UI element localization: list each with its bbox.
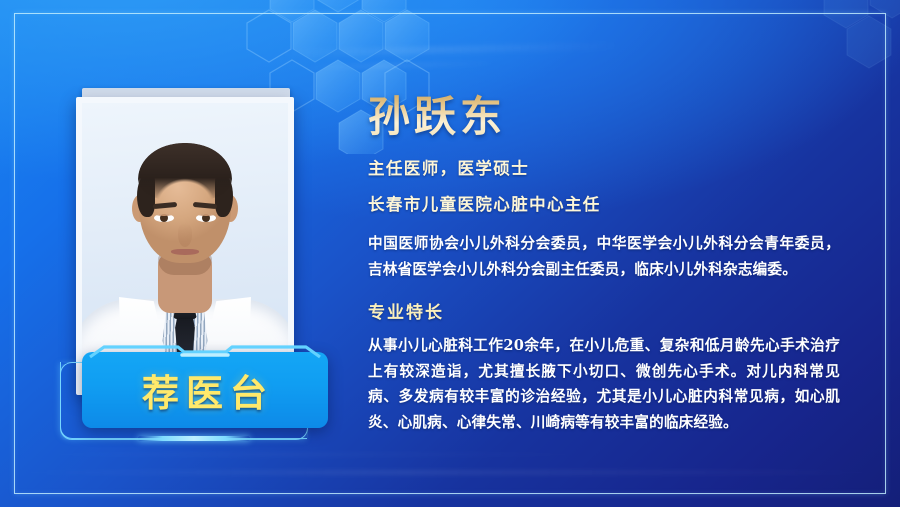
- name-badge-block: 荐医台: [60, 352, 328, 448]
- doctor-affiliations: 中国医师协会小儿外科分会委员，中华医学会小儿外科分会青年委员，吉林省医学会小儿外…: [368, 231, 840, 282]
- doctor-specialty: 从事小儿心脏科工作20余年，在小儿危重、复杂和低月龄先心手术治疗上有较深造诣，尤…: [368, 333, 840, 435]
- badge-label: 荐医台: [82, 352, 328, 428]
- doctor-name: 孙跃东: [368, 92, 844, 142]
- badge-bottom-accent: [138, 436, 250, 441]
- doctor-info-panel: 孙跃东 主任医师，医学硕士 长春市儿童医院心脏中心主任 中国医师协会小儿外科分会…: [368, 92, 844, 435]
- specialty-section-title: 专业特长: [368, 298, 844, 323]
- doctor-profile-slide: 荐医台 孙跃东 主任医师，医学硕士 长春市儿童医院心脏中心主任 中国医师协会小儿…: [0, 0, 900, 507]
- doctor-title-line-1: 主任医师，医学硕士: [368, 158, 844, 180]
- doctor-title-line-2: 长春市儿童医院心脏中心主任: [368, 194, 844, 216]
- badge-plate: 荐医台: [82, 352, 328, 428]
